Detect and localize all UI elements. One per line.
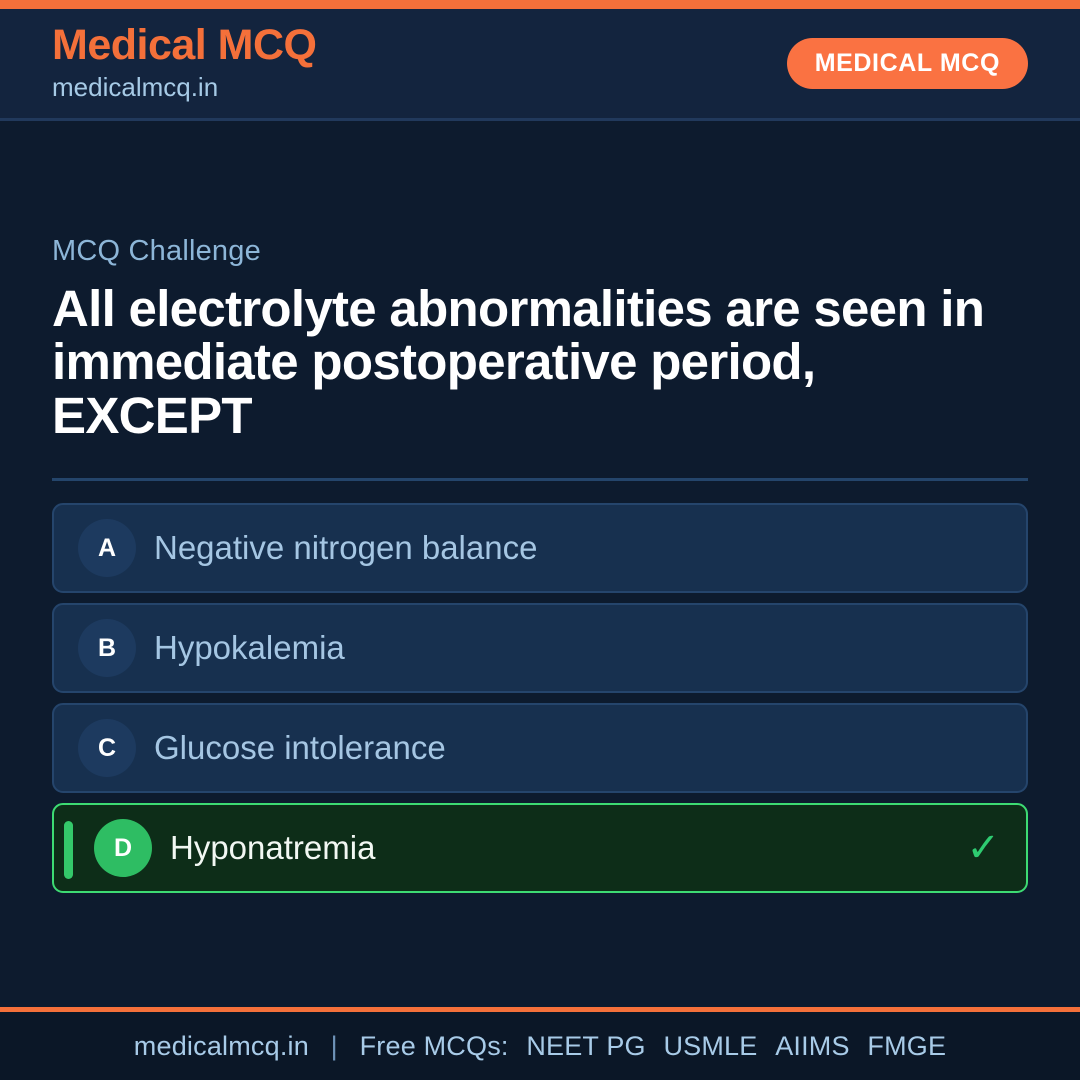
section-divider bbox=[52, 478, 1028, 481]
checkmark-icon: ✓ bbox=[966, 828, 1000, 868]
correct-accent-bar bbox=[64, 821, 73, 879]
footer-site: medicalmcq.in bbox=[134, 1031, 309, 1061]
mcq-card: Medical MCQ medicalmcq.in MEDICAL MCQ MC… bbox=[0, 0, 1080, 1080]
footer: medicalmcq.in | Free MCQs: NEET PG USMLE… bbox=[0, 1012, 1080, 1080]
option-letter-d: D bbox=[94, 819, 152, 877]
question-area: MCQ Challenge All electrolyte abnormalit… bbox=[0, 121, 1080, 1007]
option-letter-c: C bbox=[78, 719, 136, 777]
footer-free-label: Free MCQs: bbox=[360, 1031, 509, 1061]
eyebrow-label: MCQ Challenge bbox=[52, 235, 1028, 268]
option-row-d[interactable]: D Hyponatremia ✓ bbox=[52, 803, 1028, 893]
options-list: A Negative nitrogen balance B Hypokalemi… bbox=[52, 503, 1028, 893]
option-label-b: Hypokalemia bbox=[154, 630, 345, 666]
question-text: All electrolyte abnormalities are seen i… bbox=[52, 282, 1028, 443]
footer-separator: | bbox=[317, 1031, 352, 1061]
option-label-d: Hyponatremia bbox=[170, 830, 375, 866]
top-accent-bar bbox=[0, 0, 1080, 9]
footer-exam-usmle: USMLE bbox=[653, 1031, 757, 1061]
brand-badge: MEDICAL MCQ bbox=[787, 38, 1028, 89]
brand-subtitle: medicalmcq.in bbox=[52, 71, 317, 104]
footer-exam-neetpg: NEET PG bbox=[516, 1031, 645, 1061]
option-letter-b: B bbox=[78, 619, 136, 677]
option-row-b[interactable]: B Hypokalemia bbox=[52, 603, 1028, 693]
option-label-a: Negative nitrogen balance bbox=[154, 530, 537, 566]
header: Medical MCQ medicalmcq.in MEDICAL MCQ bbox=[0, 9, 1080, 121]
footer-text: medicalmcq.in | Free MCQs: NEET PG USMLE… bbox=[134, 1031, 946, 1062]
footer-exam-aiims: AIIMS bbox=[765, 1031, 850, 1061]
option-label-c: Glucose intolerance bbox=[154, 730, 446, 766]
brand: Medical MCQ medicalmcq.in bbox=[52, 23, 317, 103]
option-row-c[interactable]: C Glucose intolerance bbox=[52, 703, 1028, 793]
footer-exam-fmge: FMGE bbox=[857, 1031, 946, 1061]
option-letter-a: A bbox=[78, 519, 136, 577]
brand-title: Medical MCQ bbox=[52, 23, 317, 69]
option-row-a[interactable]: A Negative nitrogen balance bbox=[52, 503, 1028, 593]
